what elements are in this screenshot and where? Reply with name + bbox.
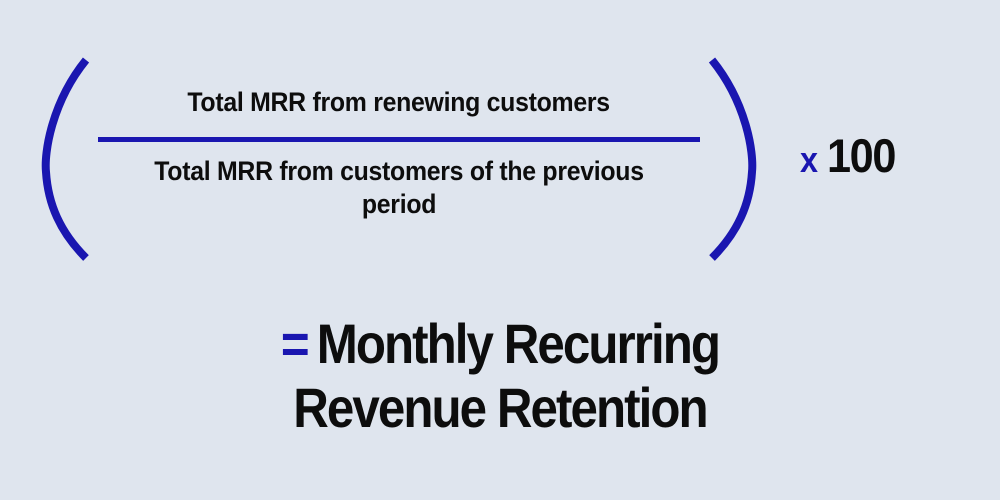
multiply-symbol: x xyxy=(800,142,817,178)
fraction-numerator: Total MRR from renewing customers xyxy=(98,78,700,126)
fraction-denominator: Total MRR from customers of the previous… xyxy=(98,153,700,221)
fraction-bar xyxy=(98,137,700,142)
result-line-1-text: Monthly Recurring xyxy=(317,312,719,375)
multiplier: x 100 xyxy=(800,132,901,179)
result-line-1: =Monthly Recurring xyxy=(60,312,940,376)
numerator-text: Total MRR from renewing customers xyxy=(188,86,610,119)
result-statement: =Monthly Recurring Revenue Retention xyxy=(0,312,1000,440)
result-line-2: Revenue Retention xyxy=(60,376,940,440)
formula-graphic: Total MRR from renewing customers Total … xyxy=(0,0,1000,500)
equals-sign: = xyxy=(281,312,308,375)
multiplier-value: 100 xyxy=(827,132,895,179)
fraction: Total MRR from renewing customers Total … xyxy=(98,78,700,221)
close-paren-icon xyxy=(700,54,760,264)
formula-expression: Total MRR from renewing customers Total … xyxy=(0,0,1000,290)
denominator-text: Total MRR from customers of the previous… xyxy=(122,155,676,221)
open-paren-icon xyxy=(38,54,98,264)
